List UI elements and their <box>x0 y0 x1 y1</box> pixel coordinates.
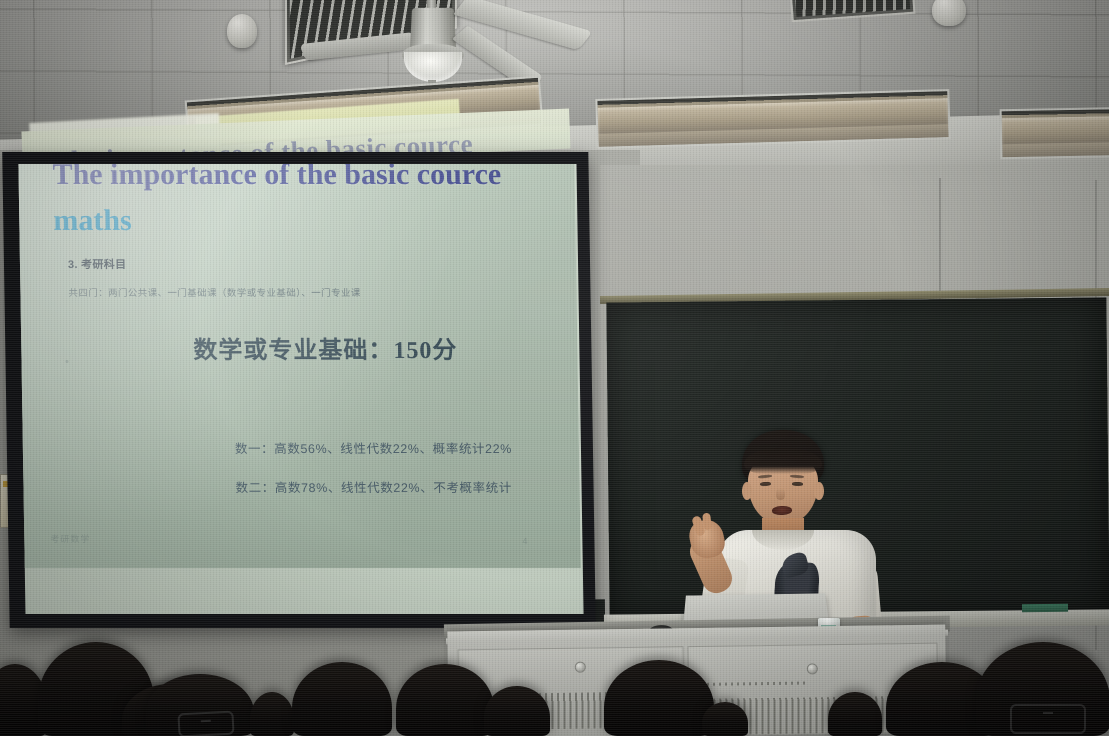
screen-pocket-right <box>1000 107 1109 160</box>
slide-page-number: 4 <box>522 536 527 546</box>
slide-title: The importance of the basic cource <box>52 164 501 192</box>
audience-head <box>702 702 748 736</box>
classroom-photo: The importance of the basic cource The i… <box>0 0 1109 736</box>
slide-bullet-dot <box>66 360 69 363</box>
projection-screen: The importance of the basic cource maths… <box>2 152 596 628</box>
slide-footer: 考研数学 <box>50 532 90 545</box>
presenter-eye-right <box>792 482 803 486</box>
slide-body-line: 共四门：两门公共课、一门基础课（数学或专业基础）、一门专业课 <box>68 285 361 299</box>
ceiling-dome-speaker-icon-2 <box>932 0 966 26</box>
podium-lock-right <box>807 663 818 674</box>
presenter-finger-2 <box>702 513 712 531</box>
fan-light-globe <box>404 52 462 82</box>
presenter-ear-left <box>742 482 752 500</box>
projected-slide: The importance of the basic cource maths… <box>18 164 580 568</box>
slide-bullet-1: 数一：高数56%、线性代数22%、概率统计22% <box>235 438 512 457</box>
audience-glasses <box>1010 704 1086 734</box>
audience-glasses <box>177 711 234 736</box>
podium-vent-dots <box>707 681 807 685</box>
presenter-hair-fringe <box>744 448 822 474</box>
glasses-bridge <box>201 720 211 723</box>
screen-surface: The importance of the basic cource maths… <box>18 164 583 614</box>
presenter-ear-right <box>814 482 824 500</box>
slide-section-heading: 3. 考研科目 <box>68 256 127 272</box>
ceiling-dome-speaker-icon <box>227 14 257 48</box>
rolled-screen-3 <box>1002 116 1109 144</box>
presenter-nose <box>776 488 785 500</box>
slide-subtitle: maths <box>53 204 132 238</box>
glasses-bridge <box>1043 712 1053 714</box>
slide-highlight: 数学或专业基础：150分 <box>193 330 458 365</box>
screen-pocket-center <box>595 89 950 149</box>
slide-bullet-2: 数二：高数78%、线性代数22%、不考概率统计 <box>235 477 512 496</box>
podium-lock-left <box>575 662 586 673</box>
chalk-tray-item <box>1022 604 1068 612</box>
